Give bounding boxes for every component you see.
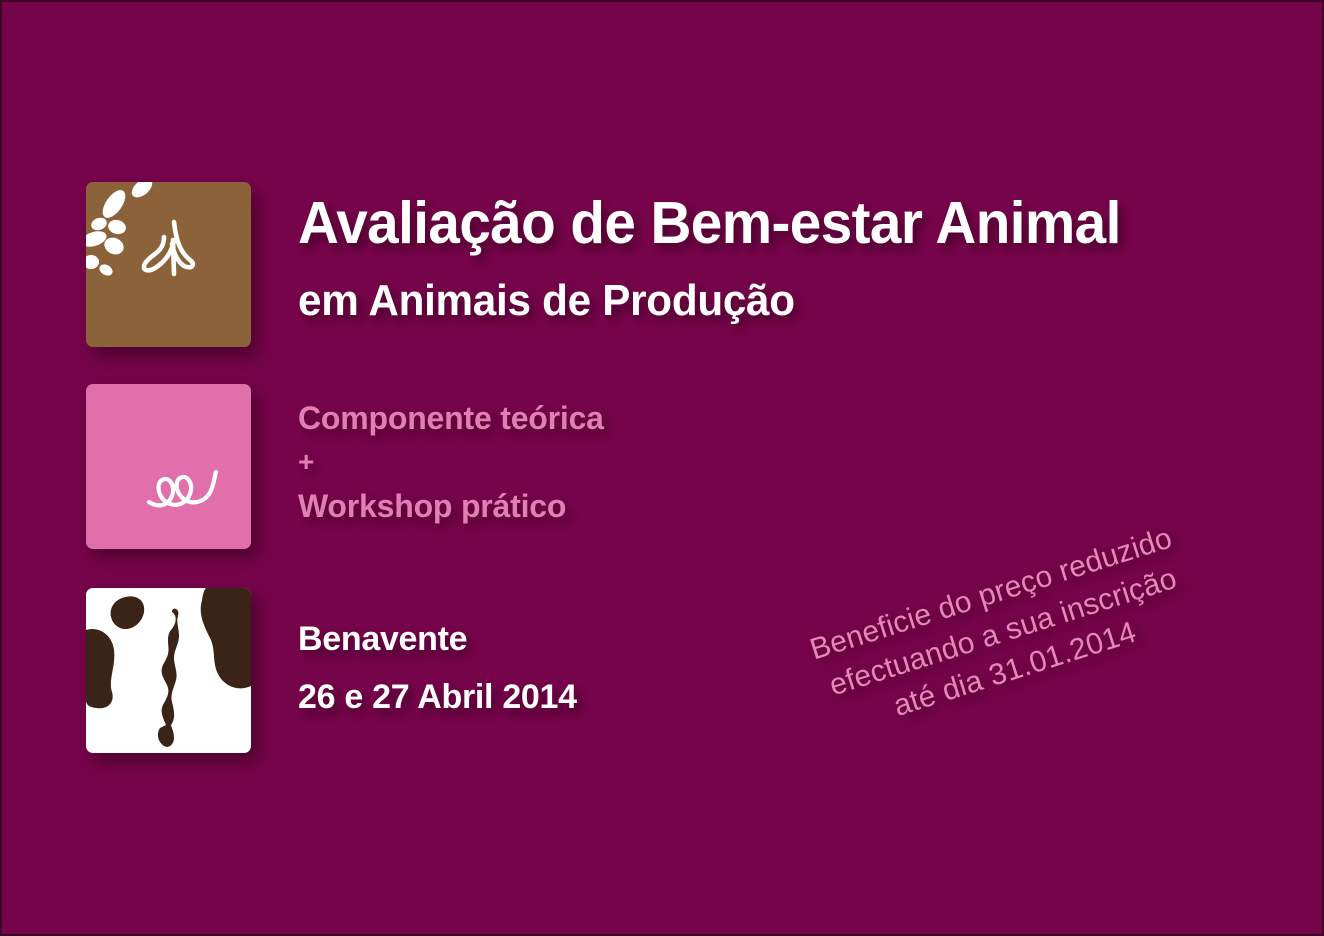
pig-tile: [86, 384, 251, 549]
component-plus-separator: +: [298, 448, 898, 476]
title-line-primary: Avaliação de Bem-estar Animal: [298, 194, 1220, 253]
pig-tail-icon: [86, 384, 251, 549]
poster-canvas: Avaliação de Bem-estar Animal em Animais…: [0, 0, 1324, 936]
cow-tile: [86, 588, 251, 753]
poster-title: Avaliação de Bem-estar Animal em Animais…: [298, 194, 1258, 323]
title-line-secondary: em Animais de Produção: [298, 279, 1220, 323]
goat-tail-icon: [86, 182, 251, 347]
component-theory: Componente teórica: [298, 402, 898, 434]
components-section: Componente teórica + Workshop prático: [298, 402, 898, 522]
cow-tail-icon: [86, 588, 251, 753]
early-bird-promo: Beneficie do preço reduzido efectuando a…: [785, 512, 1221, 752]
component-workshop: Workshop prático: [298, 490, 898, 522]
goat-tile: [86, 182, 251, 347]
